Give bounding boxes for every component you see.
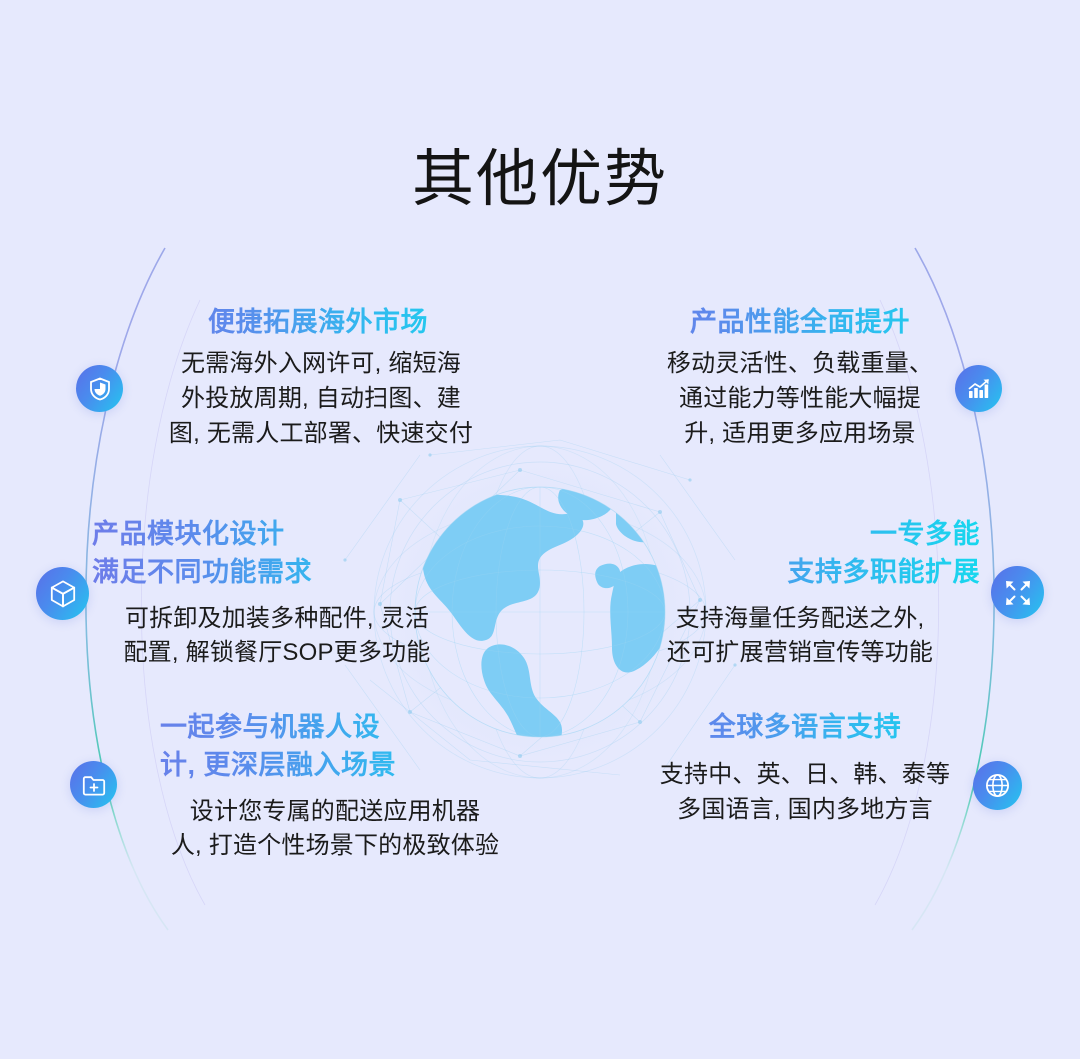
feature-block-overseas-market: 便捷拓展海外市场 无需海外入网许可, 缩短海 外投放周期, 自动扫图、建 图, … [138,303,498,452]
page-title: 其他优势 [0,146,1080,214]
folder-plus-icon [70,761,117,808]
feature-body: 无需海外入网许可, 缩短海 外投放周期, 自动扫图、建 图, 无需人工部署、快速… [138,347,498,451]
feature-block-modular-design: 产品模块化设计 满足不同功能需求 可拆卸及加装多种配件, 灵活 配置, 解锁餐厅… [92,515,462,671]
feature-block-multi-function: 一专多能 支持多职能扩展 支持海量任务配送之外, 还可扩展营销宣传等功能 [620,515,980,671]
feature-body: 支持海量任务配送之外, 还可扩展营销宣传等功能 [620,602,980,672]
feature-heading: 便捷拓展海外市场 [138,303,498,341]
cube-icon [36,567,89,620]
feature-body: 可拆卸及加装多种配件, 灵活 配置, 解锁餐厅SOP更多功能 [92,602,462,672]
feature-body: 移动灵活性、负载重量、 通过能力等性能大幅提 升, 适用更多应用场景 [620,347,980,451]
feature-heading: 产品模块化设计 满足不同功能需求 [92,515,462,592]
shield-icon [76,365,123,412]
feature-heading: 一专多能 支持多职能扩展 [620,515,980,592]
poster-stage: 其他优势 便捷拓展海外市场 无需海外入网许可, 缩短海 外投放周期, 自动扫图、… [0,0,1080,1059]
globe-icon [973,761,1022,810]
growth-chart-icon [955,365,1002,412]
feature-block-product-performance: 产品性能全面提升 移动灵活性、负载重量、 通过能力等性能大幅提 升, 适用更多应… [620,303,980,452]
feature-block-multi-language: 全球多语言支持 支持中、英、日、韩、泰等 多国语言, 国内多地方言 [630,708,980,828]
expand-arrows-icon [991,566,1044,619]
feature-heading: 产品性能全面提升 [620,303,980,341]
feature-heading: 一起参与机器人设 计, 更深层融入场景 [120,708,550,785]
feature-body: 设计您专属的配送应用机器 人, 打造个性场景下的极致体验 [120,795,550,865]
feature-block-co-design: 一起参与机器人设 计, 更深层融入场景 设计您专属的配送应用机器 人, 打造个性… [120,708,550,864]
feature-heading: 全球多语言支持 [630,708,980,746]
feature-body: 支持中、英、日、韩、泰等 多国语言, 国内多地方言 [630,758,980,828]
